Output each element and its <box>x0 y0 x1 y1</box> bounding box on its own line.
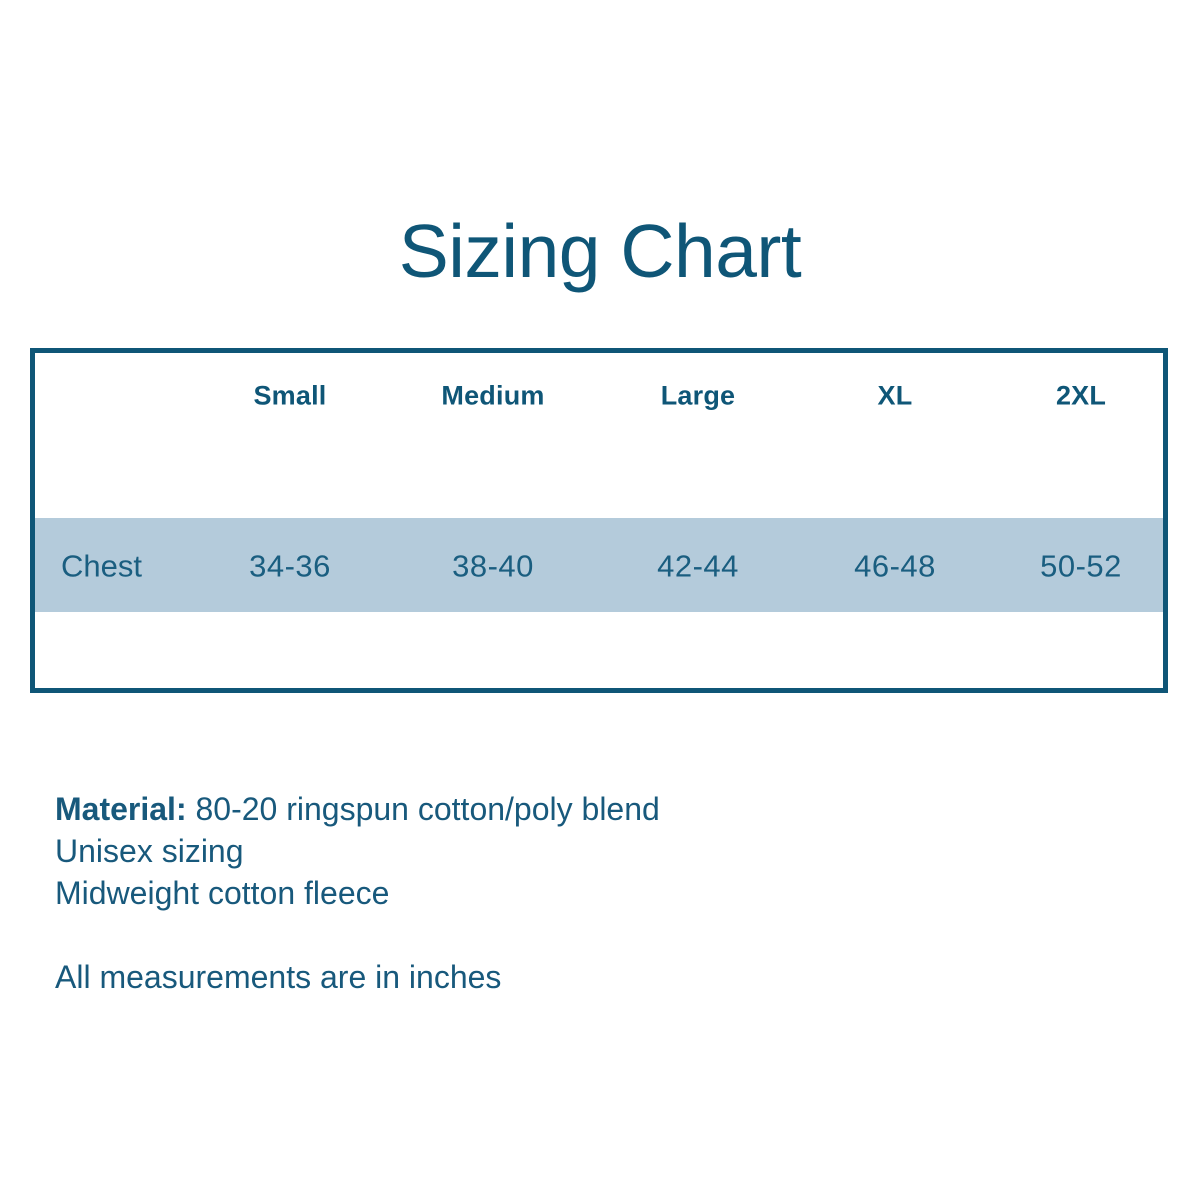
notes-block: Material: 80-20 ringspun cotton/poly ble… <box>55 788 1055 998</box>
cell-chest-2xl: 50-52 <box>1040 551 1122 582</box>
column-header-2xl: 2XL <box>1056 383 1106 410</box>
cell-chest-small: 34-36 <box>249 551 331 582</box>
sizing-chart-page: Sizing Chart Small Medium Large XL 2XL C… <box>0 0 1200 1200</box>
column-header-large: Large <box>661 383 736 410</box>
sizing-table-body: Small Medium Large XL 2XL Chest 34-36 38… <box>35 353 1163 688</box>
cell-chest-xl: 46-48 <box>854 551 936 582</box>
note-material-value: 80-20 ringspun cotton/poly blend <box>195 791 659 827</box>
cell-chest-medium: 38-40 <box>452 551 534 582</box>
note-material: Material: 80-20 ringspun cotton/poly ble… <box>55 788 1055 830</box>
column-header-small: Small <box>253 383 326 410</box>
note-midweight-fleece: Midweight cotton fleece <box>55 872 1055 914</box>
row-label-chest: Chest <box>61 551 142 582</box>
note-measurement-units: All measurements are in inches <box>55 956 1055 998</box>
note-unisex-sizing: Unisex sizing <box>55 830 1055 872</box>
page-title: Sizing Chart <box>0 214 1200 289</box>
column-header-medium: Medium <box>441 383 544 410</box>
table-row-highlight-band <box>35 518 1163 612</box>
column-header-xl: XL <box>878 383 913 410</box>
note-material-label: Material: <box>55 791 187 827</box>
cell-chest-large: 42-44 <box>657 551 739 582</box>
sizing-table: Small Medium Large XL 2XL Chest 34-36 38… <box>30 348 1168 693</box>
